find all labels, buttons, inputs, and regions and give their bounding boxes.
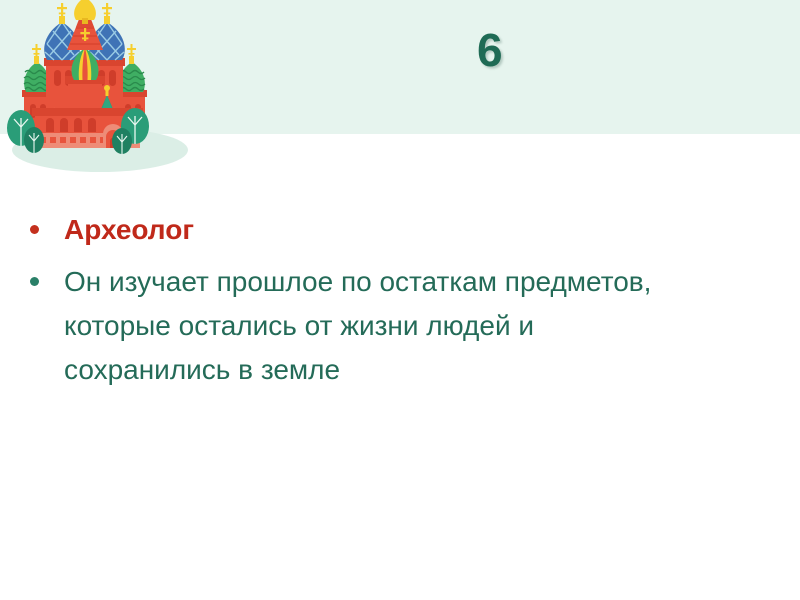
- slide-number-title: 6: [190, 27, 790, 73]
- bullet-dot-icon: [30, 225, 39, 234]
- bullet-text-term: Археолог: [64, 208, 694, 252]
- list-item: Археолог: [22, 208, 782, 252]
- list-item: Он изучает прошлое по остаткам предметов…: [22, 260, 782, 392]
- bullet-marker-icon: [22, 208, 64, 252]
- slide-canvas: 6: [0, 0, 800, 600]
- saint-basils-cathedral-icon: [2, 0, 202, 172]
- bullet-text-definition: Он изучает прошлое по остаткам предметов…: [64, 260, 694, 392]
- bullet-dot-icon: [30, 277, 39, 286]
- slide-body: Археолог Он изучает прошлое по остаткам …: [22, 208, 782, 392]
- bullet-marker-icon: [22, 260, 64, 304]
